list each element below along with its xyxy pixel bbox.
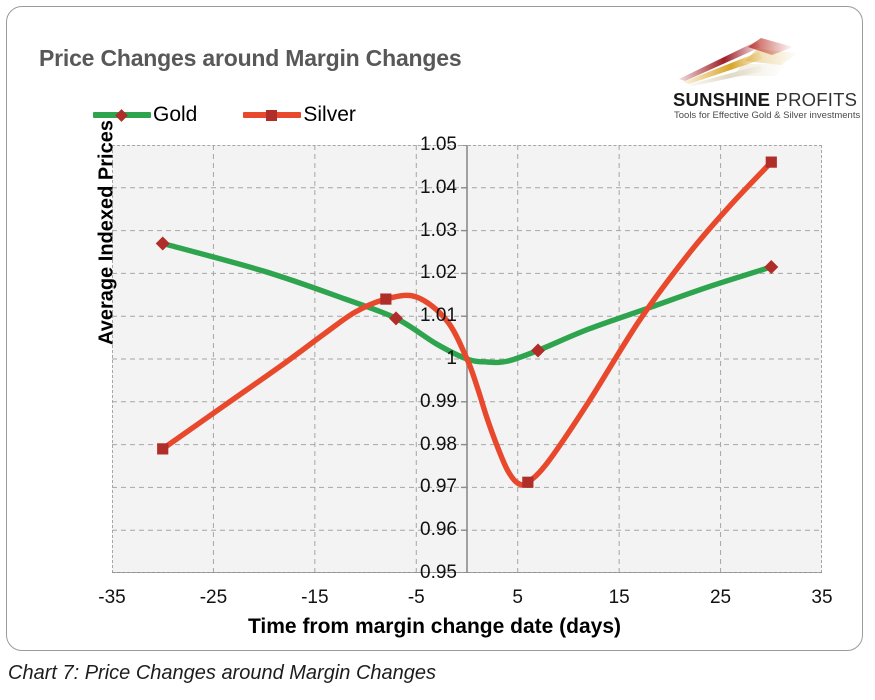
logo-rays-icon <box>671 35 843 87</box>
y-tick-label: 0.99 <box>405 391 457 413</box>
x-tick-label: 25 <box>710 587 731 609</box>
chart-legend: Gold Silver <box>93 103 356 127</box>
logo-wordmark: SUNSHINE PROFITS <box>673 89 857 111</box>
y-axis-title: Average Indexed Prices <box>96 73 119 393</box>
x-tick-label: 15 <box>609 587 630 609</box>
y-tick-label: 0.97 <box>405 476 457 498</box>
plot-wrapper: 0.950.960.970.980.9911.011.021.031.041.0… <box>112 145 822 573</box>
sunshine-profits-logo: SUNSHINE PROFITS Tools for Effective Gol… <box>671 35 843 119</box>
legend-item-silver[interactable]: Silver <box>243 103 356 127</box>
legend-swatch-silver <box>243 106 301 124</box>
x-tick-label: -15 <box>301 587 328 609</box>
y-tick-label: 1.04 <box>405 177 457 199</box>
figure-caption: Chart 7: Price Changes around Margin Cha… <box>8 662 436 685</box>
logo-wordmark-light: PROFITS <box>776 89 858 110</box>
y-tick-label: 1 <box>405 348 457 370</box>
logo-wordmark-bold: SUNSHINE <box>673 89 770 110</box>
y-tick-label: 0.96 <box>405 519 457 541</box>
y-tick-label: 1.05 <box>405 134 457 156</box>
x-axis-title: Time from margin change date (days) <box>7 615 862 639</box>
x-tick-label: -25 <box>200 587 227 609</box>
x-tick-label: 35 <box>811 587 832 609</box>
x-tick-label: 5 <box>512 587 523 609</box>
x-tick-label: -35 <box>98 587 125 609</box>
x-tick-label: -5 <box>408 587 425 609</box>
y-tick-label: 0.95 <box>405 562 457 584</box>
y-tick-label: 1.01 <box>405 305 457 327</box>
legend-label-silver: Silver <box>303 103 356 127</box>
y-tick-label: 1.02 <box>405 262 457 284</box>
y-tick-label: 0.98 <box>405 434 457 456</box>
plot-svg <box>112 145 822 573</box>
chart-frame: Price Changes around Margin Changes Gold… <box>6 6 863 651</box>
logo-tagline: Tools for Effective Gold & Silver invest… <box>674 110 860 121</box>
y-tick-label: 1.03 <box>405 220 457 242</box>
chart-title: Price Changes around Margin Changes <box>39 45 461 72</box>
legend-label-gold: Gold <box>153 103 197 127</box>
